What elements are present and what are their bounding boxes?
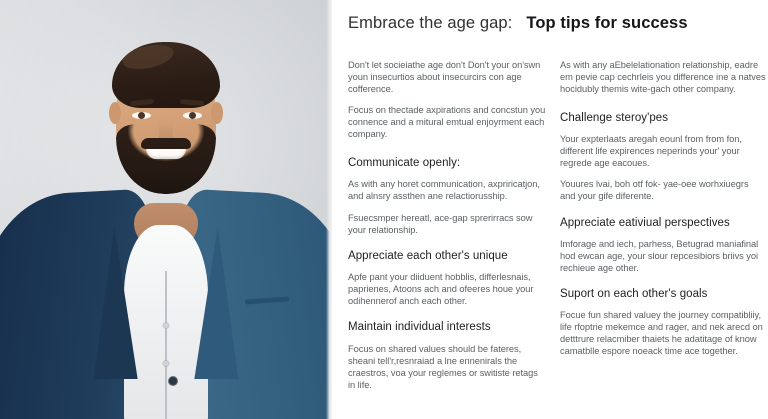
- right-eye: [183, 112, 202, 119]
- title-bold-part: Top tips for success: [526, 14, 687, 33]
- beard: [116, 124, 216, 194]
- paragraph: Fsuecsmper hereatl, ace-gap sprerirracs …: [348, 212, 546, 236]
- head: [110, 42, 222, 194]
- paragraph: As with any horet communication, axpriri…: [348, 178, 546, 202]
- paragraph: Focue fun shared valuey the journey comp…: [560, 309, 766, 357]
- hair: [112, 42, 220, 108]
- section-heading: Maintain individual interests: [348, 320, 546, 335]
- section-heading: Appreciate eativiual perspectives: [560, 216, 766, 231]
- section-intro-right: As with any aEbelelationation relationsh…: [560, 59, 766, 95]
- right-text-column: As with any aEbelelationation relationsh…: [560, 59, 766, 404]
- paragraph: Imforage and iech, parhess, Betugrad man…: [560, 238, 766, 274]
- paragraph: Your expterlaats aregah eounl from from …: [560, 133, 766, 169]
- section-heading: Communicate openly:: [348, 156, 546, 171]
- two-column-body: Don't let socieiathe age don't Don't you…: [344, 59, 766, 404]
- paragraph: As with any aEbelelationation relationsh…: [560, 59, 766, 95]
- section-heading: Suport on each other's goals: [560, 287, 766, 302]
- paragraph: Youures lvai, boh otf fok- yae-oee worhx…: [560, 178, 766, 202]
- suit-torso: [1, 193, 331, 419]
- left-text-column: Don't let socieiathe age don't Don't you…: [348, 59, 546, 404]
- section-appreciate-perspectives: Appreciate eativiual perspectives Imfora…: [560, 216, 766, 274]
- shirt-button: [164, 323, 169, 328]
- infographic-page: Embrace the age gap: Top tips for succes…: [0, 0, 768, 419]
- section-intro: Don't let socieiathe age don't Don't you…: [348, 59, 546, 140]
- left-eye: [132, 112, 151, 119]
- section-support-goals: Suport on each other's goals Focue fun s…: [560, 287, 766, 357]
- section-communicate-openly: Communicate openly: As with any horet co…: [348, 156, 546, 235]
- section-heading: Challenge steroy'pes: [560, 111, 766, 126]
- article-text-panel: Embrace the age gap: Top tips for succes…: [332, 0, 768, 419]
- title-normal-part: Embrace the age gap:: [348, 14, 512, 33]
- section-maintain-interests: Maintain individual interests Focus on s…: [348, 320, 546, 391]
- paragraph: Don't let socieiathe age don't Don't you…: [348, 59, 546, 95]
- shirt-placket: [165, 271, 167, 419]
- left-ear: [109, 102, 121, 124]
- right-ear: [211, 102, 223, 124]
- shirt-button: [164, 361, 169, 366]
- white-dress-shirt: [124, 225, 208, 419]
- portrait-photo: [0, 0, 332, 419]
- page-title: Embrace the age gap: Top tips for succes…: [344, 14, 766, 33]
- mustache: [141, 138, 191, 149]
- paragraph: Apfe pant your diiduent hobblis, differl…: [348, 271, 546, 307]
- section-appreciate-unique: Appreciate each other's unique Apfe pant…: [348, 249, 546, 307]
- section-challenge-stereotypes: Challenge steroy'pes Your expterlaats ar…: [560, 111, 766, 202]
- paragraph: Focus on shared values should be fateres…: [348, 343, 546, 391]
- section-heading: Appreciate each other's unique: [348, 249, 546, 264]
- paragraph: Focus on thectade axpirations and concst…: [348, 104, 546, 140]
- jacket-button: [169, 377, 177, 385]
